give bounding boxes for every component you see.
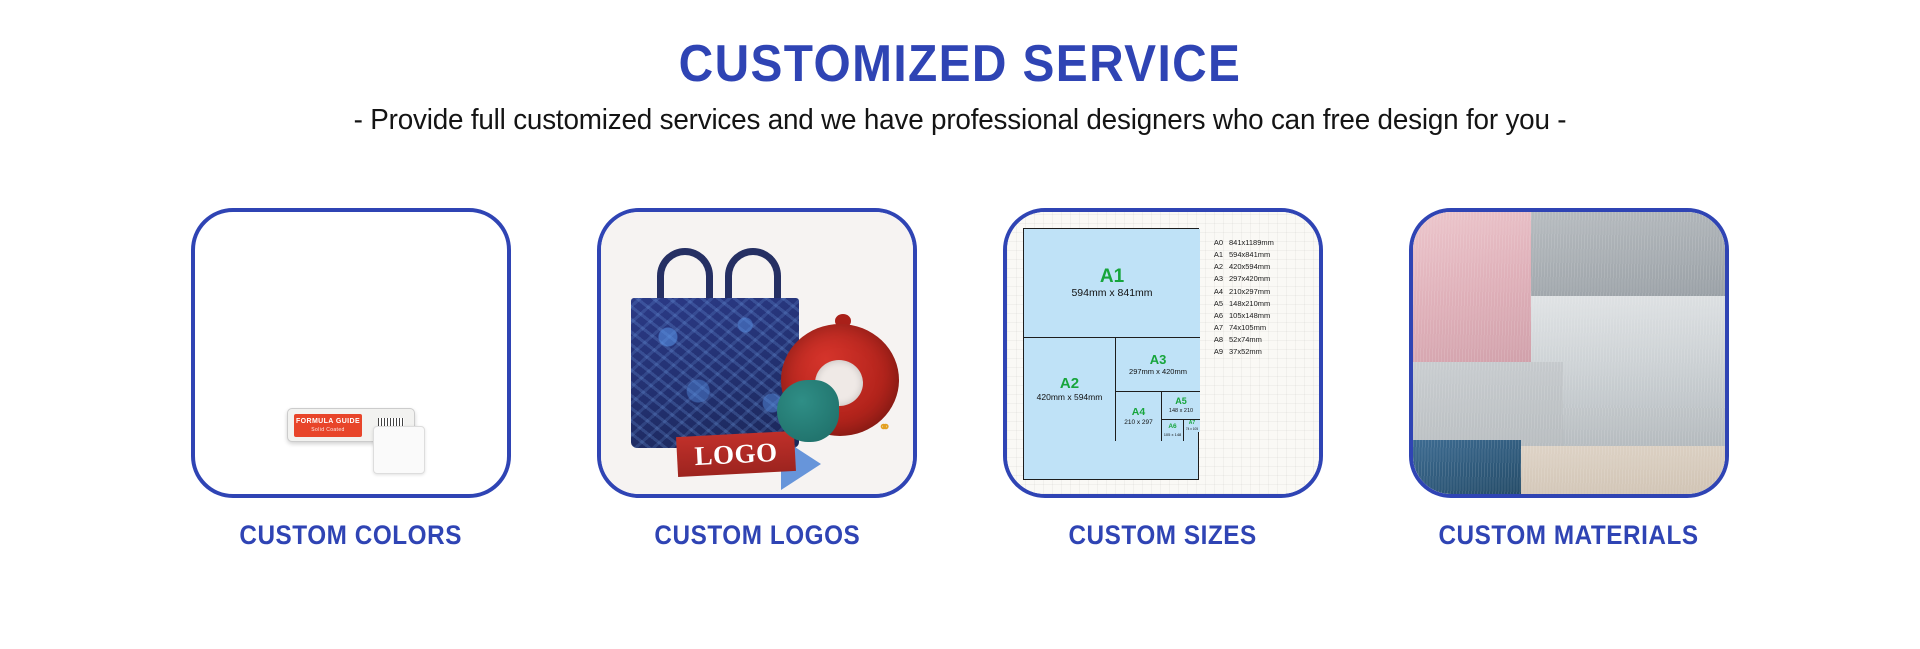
size-box-a2-name: A2	[1060, 376, 1079, 391]
size-box-a5: A5 148 x 210	[1162, 391, 1200, 419]
size-list-key: A1	[1211, 250, 1229, 260]
size-list-value: 210x297mm	[1229, 287, 1270, 297]
size-list-row: A4210x297mm	[1211, 287, 1309, 297]
size-box-a3-name: A3	[1150, 353, 1167, 366]
size-list-value: 594x841mm	[1229, 250, 1270, 260]
size-box-a7-name: A7	[1189, 421, 1195, 426]
size-list-key: A5	[1211, 299, 1229, 309]
size-list-row: A3297x420mm	[1211, 274, 1309, 284]
size-list-row: A5148x210mm	[1211, 299, 1309, 309]
formula-guide-label: FORMULA GUIDE Solid Coated	[294, 414, 362, 437]
size-box-a4-name: A4	[1132, 407, 1145, 418]
tote-bag-body: LOGO	[631, 298, 799, 448]
fabric-swatches-icon	[1413, 212, 1725, 494]
size-list-value: 148x210mm	[1229, 299, 1270, 309]
size-list-value: 420x594mm	[1229, 262, 1270, 272]
size-list-row: A1594x841mm	[1211, 250, 1309, 260]
pillow-zipper-icon: ⚭	[878, 418, 891, 436]
size-box-a6: A6 105 x 148	[1162, 419, 1184, 441]
pantone-fan-deck-icon: FORMULA GUIDE Solid Coated	[195, 212, 507, 494]
bag-handle-right	[725, 248, 781, 302]
bag-logo-band: LOGO	[676, 431, 796, 477]
size-list-value: 37x52mm	[1229, 347, 1262, 357]
size-box-a6-dim: 105 x 148	[1164, 433, 1182, 437]
bag-logo-text: LOGO	[694, 436, 779, 471]
fabric-swatch-grey-top	[1519, 212, 1729, 304]
size-box-a3-dim: 297mm x 420mm	[1129, 368, 1187, 376]
size-list-value: 52x74mm	[1229, 335, 1262, 345]
size-list-key: A7	[1211, 323, 1229, 333]
neck-pillow-teal-patch	[777, 380, 839, 442]
header-block: CUSTOMIZED SERVICE - Provide full custom…	[0, 0, 1920, 137]
size-box-a1-name: A1	[1100, 267, 1124, 286]
size-list-row: A774x105mm	[1211, 323, 1309, 333]
custom-materials-thumbnail	[1409, 208, 1729, 498]
size-box-a5-name: A5	[1175, 397, 1187, 406]
page-title: CUSTOMIZED SERVICE	[77, 38, 1843, 90]
size-list-row: A2420x594mm	[1211, 262, 1309, 272]
size-box-a7-dim: 74 x 105	[1186, 428, 1198, 432]
custom-colors-thumbnail: FORMULA GUIDE Solid Coated	[191, 208, 511, 498]
service-cards-row: FORMULA GUIDE Solid Coated CUSTOM COLORS	[0, 208, 1920, 551]
size-box-a2-dim: 420mm x 594mm	[1037, 393, 1103, 402]
size-box-a5-dim: 148 x 210	[1169, 408, 1193, 414]
size-list-value: 74x105mm	[1229, 323, 1266, 333]
size-list-row: A0841x1189mm	[1211, 238, 1309, 248]
card-label-custom-sizes: CUSTOM SIZES	[1069, 520, 1257, 551]
size-box-a1-dim: 594mm x 841mm	[1071, 288, 1152, 300]
service-card-custom-colors[interactable]: FORMULA GUIDE Solid Coated CUSTOM COLORS	[191, 208, 511, 551]
size-list-key: A2	[1211, 262, 1229, 272]
fan-tab	[373, 426, 425, 474]
paper-size-list: A0841x1189mmA1594x841mmA2420x594mmA3297x…	[1199, 228, 1309, 480]
size-box-a1: A1 594mm x 841mm	[1024, 229, 1200, 337]
bag-handle-left	[657, 248, 713, 302]
paper-size-diagram: A1 594mm x 841mm A2 420mm x 594mm A3 297…	[1023, 228, 1199, 480]
fabric-swatch-pink	[1413, 212, 1531, 372]
page-subtitle: - Provide full customized services and w…	[38, 104, 1881, 137]
size-list-key: A8	[1211, 335, 1229, 345]
size-box-a4: A4 210 x 297	[1116, 391, 1162, 441]
size-list-value: 105x148mm	[1229, 311, 1270, 321]
service-card-custom-sizes[interactable]: A1 594mm x 841mm A2 420mm x 594mm A3 297…	[1003, 208, 1323, 551]
size-list-key: A4	[1211, 287, 1229, 297]
size-list-row: A852x74mm	[1211, 335, 1309, 345]
card-label-custom-logos: CUSTOM LOGOS	[654, 520, 860, 551]
size-list-key: A3	[1211, 274, 1229, 284]
customized-service-banner: CUSTOMIZED SERVICE - Provide full custom…	[0, 0, 1920, 649]
fabric-swatch-blue	[1413, 440, 1521, 498]
custom-logos-thumbnail: LOGO ⚭	[597, 208, 917, 498]
size-list-key: A0	[1211, 238, 1229, 248]
size-list-value: 841x1189mm	[1229, 238, 1274, 248]
tote-bag-logo-icon: LOGO ⚭	[601, 212, 913, 494]
size-box-a3: A3 297mm x 420mm	[1116, 337, 1200, 391]
size-box-a4-dim: 210 x 297	[1124, 419, 1153, 426]
paper-size-chart-icon: A1 594mm x 841mm A2 420mm x 594mm A3 297…	[1007, 212, 1319, 494]
formula-guide-subtitle: Solid Coated	[311, 427, 344, 433]
size-box-a2: A2 420mm x 594mm	[1024, 337, 1116, 441]
size-box-a6-name: A6	[1168, 424, 1176, 431]
custom-sizes-thumbnail: A1 594mm x 841mm A2 420mm x 594mm A3 297…	[1003, 208, 1323, 498]
service-card-custom-materials[interactable]: CUSTOM MATERIALS	[1409, 208, 1729, 551]
service-card-custom-logos[interactable]: LOGO ⚭ CUSTOM LOGOS	[597, 208, 917, 551]
fabric-swatch-beige	[1509, 446, 1729, 498]
size-box-a7: A7 74 x 105	[1184, 419, 1200, 432]
card-label-custom-materials: CUSTOM MATERIALS	[1439, 520, 1699, 551]
size-list-value: 297x420mm	[1229, 274, 1270, 284]
card-label-custom-colors: CUSTOM COLORS	[240, 520, 463, 551]
size-list-row: A6105x148mm	[1211, 311, 1309, 321]
size-list-key: A6	[1211, 311, 1229, 321]
size-list-key: A9	[1211, 347, 1229, 357]
size-list-row: A937x52mm	[1211, 347, 1309, 357]
formula-guide-title: FORMULA GUIDE	[296, 418, 360, 427]
